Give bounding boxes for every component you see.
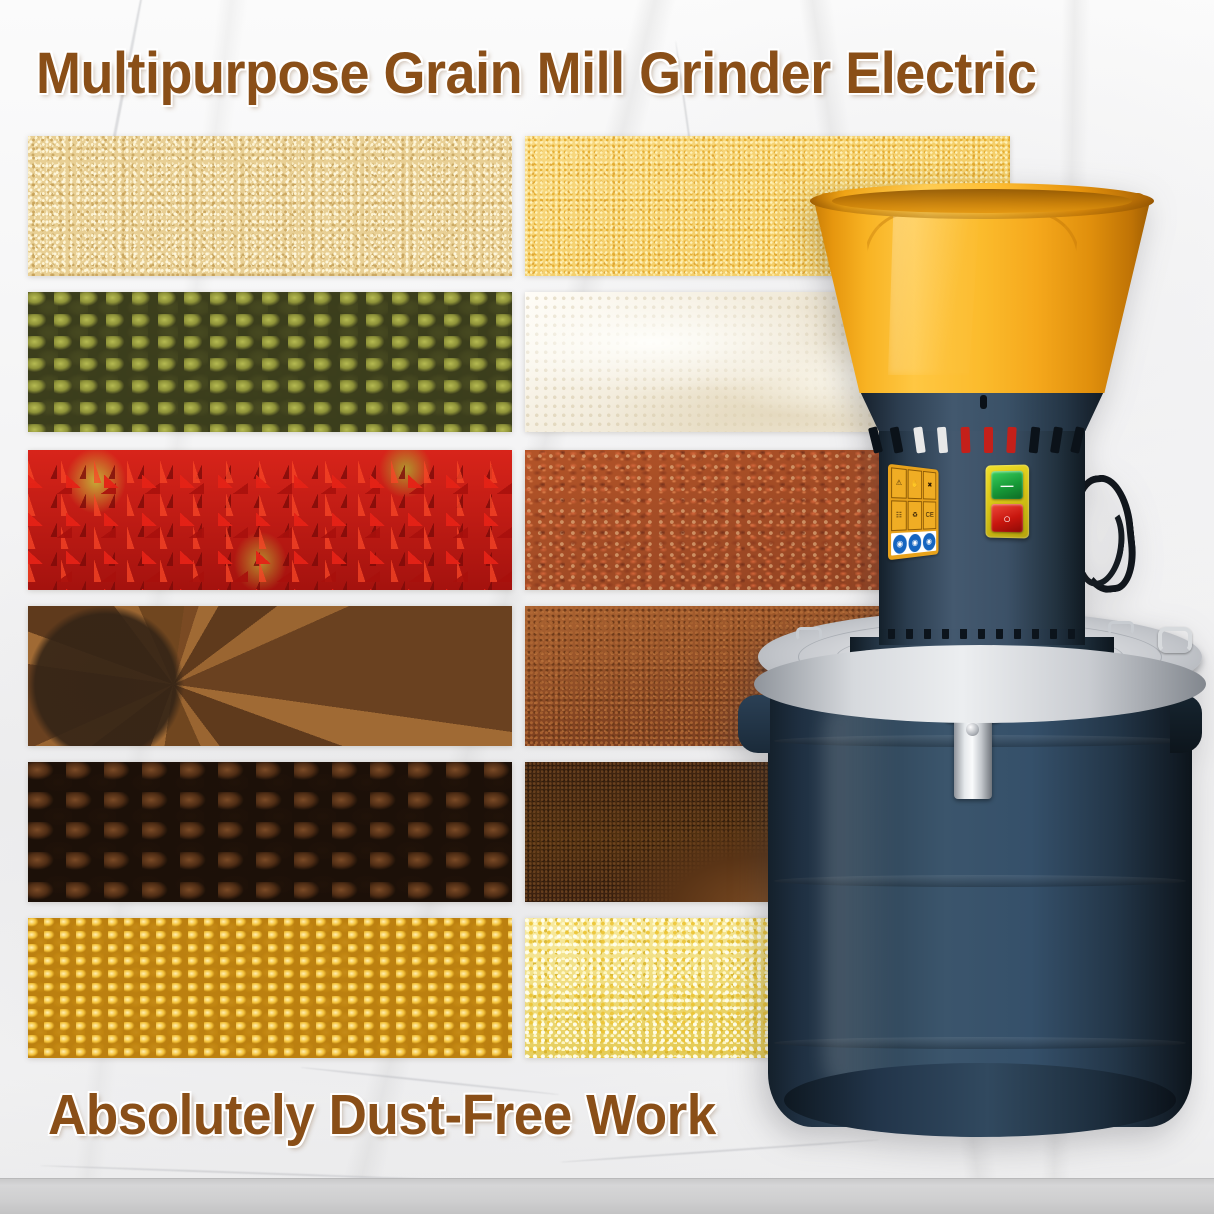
dust-mask-icon: ◉ (923, 532, 935, 550)
motor-air-slit (984, 427, 993, 453)
eye-protection-icon: ◉ (893, 534, 907, 554)
motor-air-slit (1006, 427, 1016, 453)
ear-protection-icon: ◉ (908, 533, 921, 552)
safety-warning-label: ⚠ ✋ ✖ ☷ ♻ CE ◉ ◉ ◉ (888, 464, 939, 561)
recycle-icon: ♻ (908, 501, 922, 531)
dried-red-chilies-photo (28, 450, 512, 590)
bucket-clamp-screw (966, 723, 979, 736)
gallery-tile-millet-grains (28, 136, 512, 276)
page-title: Multipurpose Grain Mill Grinder Electric (36, 40, 1036, 107)
power-on-button[interactable]: — (991, 471, 1023, 499)
hopper-opening (832, 189, 1132, 213)
lid-clip[interactable] (1108, 621, 1134, 635)
roasted-coffee-beans-photo (28, 762, 512, 902)
warning-triangle-icon: ⚠ (891, 467, 906, 499)
gallery-tile-mung-beans (28, 292, 512, 432)
bucket-clamp-loop-right[interactable] (1158, 627, 1192, 653)
gallery-tile-star-anise-spices (28, 606, 512, 746)
cracked-corn-grits-photo (28, 918, 512, 1058)
gallery-tile-dried-red-chilies (28, 450, 512, 590)
gallery-tile-cracked-corn-grits (28, 918, 512, 1058)
grain-mill-product-image: ⚠ ✋ ✖ ☷ ♻ CE ◉ ◉ ◉ — ○ (740, 175, 1214, 1135)
tagline: Absolutely Dust-Free Work (48, 1082, 716, 1148)
motor-nub (980, 395, 987, 409)
lid-clip[interactable] (796, 627, 822, 641)
warning-pictogram-grid: ⚠ ✋ ✖ ☷ ♻ CE (891, 467, 936, 531)
counter-edge (0, 1178, 1214, 1214)
millet-grains-photo (28, 136, 512, 276)
product-poster: Multipurpose Grain Mill Grinder Electric (0, 0, 1214, 1214)
bucket-handle-left[interactable] (738, 695, 770, 753)
gallery-tile-roasted-coffee-beans (28, 762, 512, 902)
read-manual-icon: ☷ (891, 500, 906, 531)
ce-mark-icon: CE (923, 501, 936, 530)
power-switch-box[interactable]: — ○ (986, 464, 1030, 538)
bucket-highlight (824, 695, 896, 1095)
ppe-icon-strip: ◉ ◉ ◉ (891, 531, 936, 556)
star-anise-spices-photo (28, 606, 512, 746)
power-off-button[interactable]: ○ (991, 504, 1023, 532)
hopper-highlight (888, 205, 980, 375)
mung-beans-photo (28, 292, 512, 432)
motor-air-slit (961, 427, 971, 453)
lid-rim (754, 645, 1206, 723)
hand-entanglement-icon: ✋ (908, 469, 922, 499)
no-hands-icon: ✖ (923, 471, 936, 500)
bucket-base (784, 1063, 1176, 1137)
